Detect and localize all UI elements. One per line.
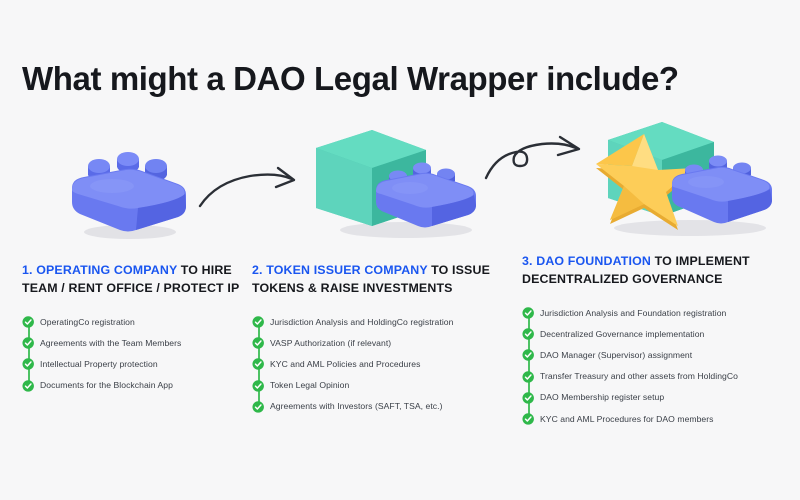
list-item-label: KYC and AML Procedures for DAO members bbox=[540, 414, 714, 425]
column-heading-accent: 2. TOKEN ISSUER COMPANY bbox=[252, 263, 428, 277]
list-item: DAO Membership register setup bbox=[522, 390, 784, 406]
group-shadow bbox=[340, 222, 472, 238]
check-circle-icon bbox=[252, 379, 264, 391]
column-heading: 3. DAO FOUNDATION TO IMPLEMENT DECENTRAL… bbox=[522, 253, 784, 289]
list-item: Decentralized Governance implementation bbox=[522, 326, 784, 342]
list-item: Jurisdiction Analysis and HoldingCo regi… bbox=[252, 314, 504, 330]
column-heading-accent: 3. DAO FOUNDATION bbox=[522, 254, 651, 268]
list-item-label: Intellectual Property protection bbox=[40, 359, 158, 370]
list-item-label: DAO Manager (Supervisor) assignment bbox=[540, 350, 692, 361]
list-item: Intellectual Property protection bbox=[22, 356, 247, 372]
infographic-canvas: What might a DAO Legal Wrapper include? bbox=[0, 0, 800, 500]
illustration-stage-2 bbox=[310, 122, 490, 242]
list-item-label: Jurisdiction Analysis and Foundation reg… bbox=[540, 308, 726, 319]
list-item: VASP Authorization (if relevant) bbox=[252, 335, 504, 351]
check-circle-icon bbox=[522, 349, 534, 361]
checklist: Jurisdiction Analysis and HoldingCo regi… bbox=[252, 314, 504, 415]
list-item: KYC and AML Procedures for DAO members bbox=[522, 411, 784, 427]
column-heading: 1. OPERATING COMPANY TO HIRE TEAM / RENT… bbox=[22, 262, 247, 298]
column-heading: 2. TOKEN ISSUER COMPANY TO ISSUE TOKENS … bbox=[252, 262, 504, 298]
check-circle-icon bbox=[22, 379, 34, 391]
list-item: Jurisdiction Analysis and Foundation reg… bbox=[522, 305, 784, 321]
list-item-label: Decentralized Governance implementation bbox=[540, 329, 704, 340]
list-item-label: KYC and AML Policies and Procedures bbox=[270, 359, 420, 370]
list-item: OperatingCo registration bbox=[22, 314, 247, 330]
group-shadow bbox=[614, 220, 766, 236]
list-item: Agreements with Investors (SAFT, TSA, et… bbox=[252, 399, 504, 415]
list-item-label: Transfer Treasury and other assets from … bbox=[540, 371, 738, 382]
check-circle-icon bbox=[252, 358, 264, 370]
check-circle-icon bbox=[522, 392, 534, 404]
list-item: KYC and AML Policies and Procedures bbox=[252, 356, 504, 372]
check-circle-icon bbox=[522, 328, 534, 340]
check-circle-icon bbox=[22, 358, 34, 370]
list-item-label: DAO Membership register setup bbox=[540, 392, 664, 403]
illustration-stage-3 bbox=[590, 112, 780, 242]
list-item-label: Documents for the Blockchain App bbox=[40, 380, 173, 391]
check-circle-icon bbox=[252, 316, 264, 328]
check-circle-icon bbox=[522, 307, 534, 319]
page-title: What might a DAO Legal Wrapper include? bbox=[22, 60, 742, 98]
list-item-label: Agreements with Investors (SAFT, TSA, et… bbox=[270, 401, 443, 412]
illustration-stage-1 bbox=[64, 148, 194, 243]
list-item-label: OperatingCo registration bbox=[40, 317, 135, 328]
check-circle-icon bbox=[252, 401, 264, 413]
column-token-issuer-company: 2. TOKEN ISSUER COMPANY TO ISSUE TOKENS … bbox=[252, 262, 504, 415]
check-circle-icon bbox=[252, 337, 264, 349]
list-item: DAO Manager (Supervisor) assignment bbox=[522, 347, 784, 363]
column-dao-foundation: 3. DAO FOUNDATION TO IMPLEMENT DECENTRAL… bbox=[522, 253, 784, 427]
check-circle-icon bbox=[522, 413, 534, 425]
arrow-stage-2-to-3 bbox=[482, 130, 602, 186]
list-item: Agreements with the Team Members bbox=[22, 335, 247, 351]
check-circle-icon bbox=[22, 337, 34, 349]
arrow-stage-1-to-2 bbox=[196, 162, 316, 218]
check-circle-icon bbox=[22, 316, 34, 328]
check-circle-icon bbox=[522, 370, 534, 382]
list-item-label: VASP Authorization (if relevant) bbox=[270, 338, 391, 349]
column-operating-company: 1. OPERATING COMPANY TO HIRE TEAM / RENT… bbox=[22, 262, 247, 394]
list-item-label: Token Legal Opinion bbox=[270, 380, 349, 391]
list-item: Documents for the Blockchain App bbox=[22, 378, 247, 394]
column-heading-accent: 1. OPERATING COMPANY bbox=[22, 263, 177, 277]
list-item-label: Jurisdiction Analysis and HoldingCo regi… bbox=[270, 317, 453, 328]
list-item-label: Agreements with the Team Members bbox=[40, 338, 181, 349]
list-item: Token Legal Opinion bbox=[252, 378, 504, 394]
checklist: Jurisdiction Analysis and Foundation reg… bbox=[522, 305, 784, 427]
checklist: OperatingCo registration Agreements with… bbox=[22, 314, 247, 394]
list-item: Transfer Treasury and other assets from … bbox=[522, 369, 784, 385]
